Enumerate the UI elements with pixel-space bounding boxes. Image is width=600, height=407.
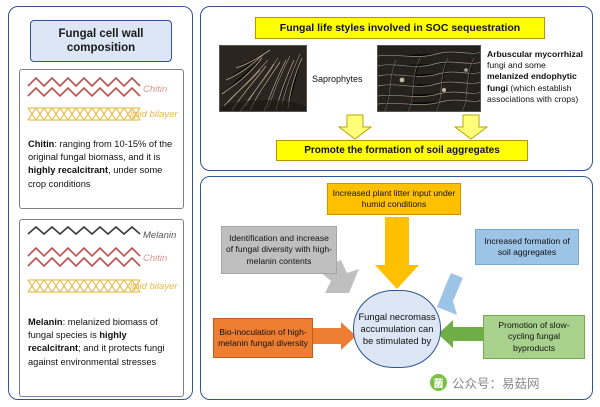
fungal-life-styles-panel: Fungal life styles involved in SOC seque… xyxy=(200,6,593,171)
chitin-lipid-diagram-svg xyxy=(20,70,185,132)
promote-soil-aggregates-label: Promote the formation of soil aggregates xyxy=(276,140,528,161)
mycorrhizal-photo-svg xyxy=(378,46,481,112)
melanin-block: Melanin Chitin lipid bilayer Melanin: me… xyxy=(19,219,184,397)
increased-plant-litter-box: Increased plant litter input under humid… xyxy=(327,183,461,215)
watermark-text: 公众号：易菇网 xyxy=(452,373,540,392)
watermark: 菌 公众号：易菇网 xyxy=(430,373,540,392)
chitin-wall-graphic: Chitin lipid bilayer xyxy=(20,70,183,132)
chitin-block: Chitin lipid bilayer Chitin: ranging fro… xyxy=(19,69,184,209)
identification-diversity-box: Identification and increase of fungal di… xyxy=(221,226,337,274)
melanin-wall-graphic: Melanin Chitin lipid bilayer xyxy=(20,220,183,306)
left-panel-title: Fungal cell wall composition xyxy=(30,20,172,62)
saprophytes-caption: Saprophytes xyxy=(312,74,363,84)
mycorrhizal-photo xyxy=(377,45,481,112)
watermark-logo-icon: 菌 xyxy=(430,374,447,391)
melanin-label: Melanin xyxy=(143,230,176,241)
lipid-bilayer-label: lipid bilayer xyxy=(130,109,178,120)
chitin-label: Chitin xyxy=(143,84,167,95)
bio-inoculation-box: Bio-inoculation of high-melanin fungal d… xyxy=(213,318,313,358)
top-panel-title: Fungal life styles involved in SOC seque… xyxy=(255,17,545,39)
chitin-description: Chitin: ranging from 10-15% of the origi… xyxy=(28,138,176,191)
increased-soil-aggregates-box: Increased formation of soil aggregates xyxy=(475,229,579,265)
melanin-lipid-bilayer-label: lipid bilayer xyxy=(130,281,178,292)
melanin-description: Melanin: melanized biomass of fungal spe… xyxy=(28,316,176,369)
promotion-byproducts-box: Promotion of slow-cycling fungal byprodu… xyxy=(483,315,585,359)
fungal-cell-wall-panel: Fungal cell wall composition Chitin lipi… xyxy=(8,6,193,400)
fungal-necromass-center-box: Fungal necromass accumulation can be sti… xyxy=(353,290,441,368)
mycorrhizal-caption: Arbuscular mycorrhizal fungi and some me… xyxy=(487,49,587,105)
saprophytes-photo-svg xyxy=(220,46,307,112)
saprophytes-photo xyxy=(219,45,307,112)
melanin-chitin-label: Chitin xyxy=(143,253,167,264)
necromass-accumulation-panel: Increased plant litter input under humid… xyxy=(200,176,593,400)
